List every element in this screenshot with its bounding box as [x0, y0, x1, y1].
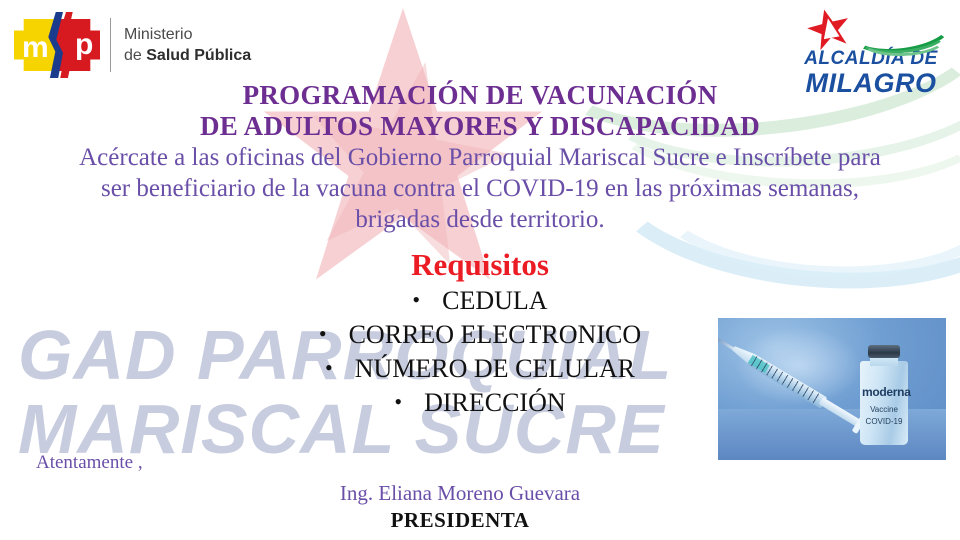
vial-label-line-2: COVID-19	[862, 417, 906, 426]
list-item-label: NÚMERO DE CELULAR	[355, 354, 635, 383]
vial-brand-label: moderna	[862, 385, 906, 399]
vial-body	[860, 361, 908, 445]
signature-block: Ing. Eliana Moreno Guevara PRESIDENTA	[210, 480, 710, 534]
vial-cap	[868, 345, 900, 358]
signer-name: Ing. Eliana Moreno Guevara	[210, 480, 710, 507]
msp-text-line-2: de Salud Pública	[124, 45, 251, 66]
msp-letter-p: p	[75, 30, 93, 60]
list-item: •CEDULA	[0, 283, 960, 317]
list-item-label: CORREO ELECTRONICO	[349, 320, 642, 349]
intro-paragraph: Acércate a las oficinas del Gobierno Par…	[30, 142, 930, 235]
bullet-icon: •	[412, 283, 420, 316]
msp-logo-divider	[110, 18, 111, 72]
requisitos-heading: Requisitos	[0, 247, 960, 283]
vial-label-line-1: Vaccine	[862, 405, 906, 414]
page-title: PROGRAMACIÓN DE VACUNACIÓN DE ADULTOS MA…	[0, 80, 960, 142]
vaccine-photo: moderna Vaccine COVID-19	[718, 318, 946, 460]
bullet-icon: •	[394, 385, 402, 418]
msp-text-de: de	[124, 47, 146, 64]
intro-line-3: brigadas desde territorio.	[30, 204, 930, 235]
msp-letter-m: m	[22, 33, 49, 63]
title-line-1: PROGRAMACIÓN DE VACUNACIÓN	[0, 80, 960, 111]
vaccine-vial: moderna Vaccine COVID-19	[858, 345, 910, 445]
closing-text: Atentamente ,	[36, 452, 143, 474]
msp-text-line-1: Ministerio	[124, 24, 251, 45]
intro-line-1: Acércate a las oficinas del Gobierno Par…	[30, 142, 930, 173]
msp-text-salud-publica: Salud Pública	[146, 47, 251, 64]
list-item-label: DIRECCIÓN	[424, 388, 566, 417]
list-item-label: CEDULA	[442, 286, 547, 315]
vaccination-announcement-poster: GAD PARROQUIAL MARISCAL SUCRE m p Minist…	[0, 0, 960, 540]
intro-line-2: ser beneficiario de la vacuna contra el …	[30, 173, 930, 204]
msp-logo-text: Ministerio de Salud Pública	[124, 24, 251, 66]
title-line-2: DE ADULTOS MAYORES Y DISCAPACIDAD	[0, 111, 960, 142]
alcaldia-emblem-icon	[796, 8, 946, 48]
msp-logo: m p Ministerio de Salud Pública	[14, 10, 251, 80]
signer-role: PRESIDENTA	[210, 507, 710, 534]
syringe-needle	[718, 333, 736, 351]
bullet-icon: •	[325, 351, 333, 384]
bullet-icon: •	[319, 317, 327, 350]
msp-emblem-icon: m p	[14, 12, 100, 78]
